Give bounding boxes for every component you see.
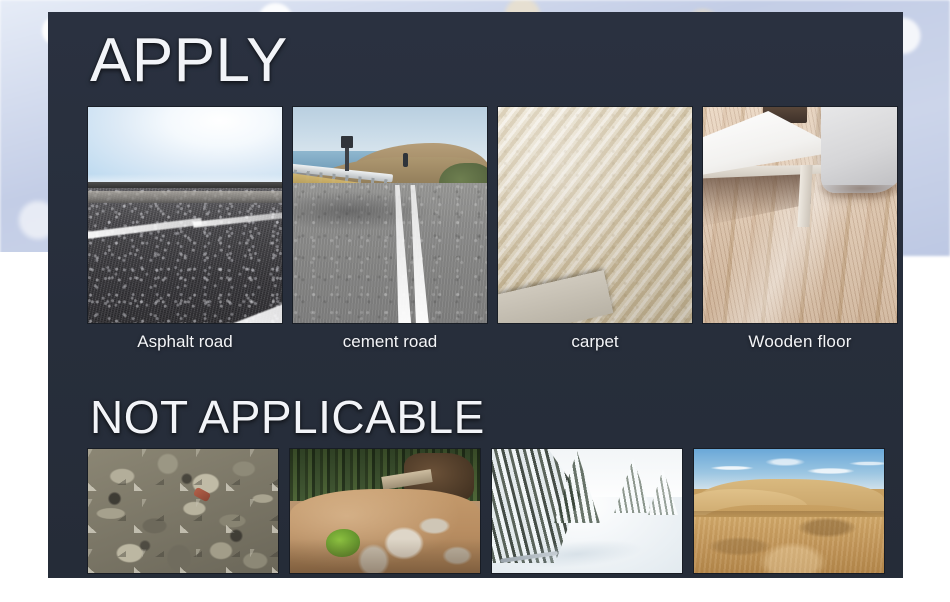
cement-road-photo: [293, 107, 487, 323]
not-applicable-item-sand: [694, 449, 884, 573]
apply-items-row: Asphalt road: [88, 107, 878, 352]
not-applicable-items-row: [88, 449, 878, 573]
apply-heading: APPLY: [90, 30, 288, 92]
rubble-gravel-photo: [88, 449, 278, 573]
asphalt-road-photo: [88, 107, 282, 323]
dirt-construction-site-photo: [290, 449, 480, 573]
apply-item-asphalt-road: Asphalt road: [88, 107, 282, 352]
carpet-photo: [498, 107, 692, 323]
sand-dunes-photo: [694, 449, 884, 573]
apply-item-wooden-floor: Wooden floor: [703, 107, 897, 352]
not-applicable-item-dirt: [290, 449, 480, 573]
apply-item-caption: carpet: [498, 332, 692, 352]
apply-item-caption: Asphalt road: [88, 332, 282, 352]
apply-item-caption: Wooden floor: [703, 332, 897, 352]
snow-forest-photo: [492, 449, 682, 573]
apply-item-caption: cement road: [293, 332, 487, 352]
wooden-floor-photo: [703, 107, 897, 323]
not-applicable-item-rubble: [88, 449, 278, 573]
apply-item-carpet: carpet: [498, 107, 692, 352]
not-applicable-heading: NOT APPLICABLE: [90, 394, 485, 440]
apply-compatibility-panel: APPLY Asphalt road: [48, 12, 903, 578]
not-applicable-item-snow: [492, 449, 682, 573]
apply-item-cement-road: cement road: [293, 107, 487, 352]
